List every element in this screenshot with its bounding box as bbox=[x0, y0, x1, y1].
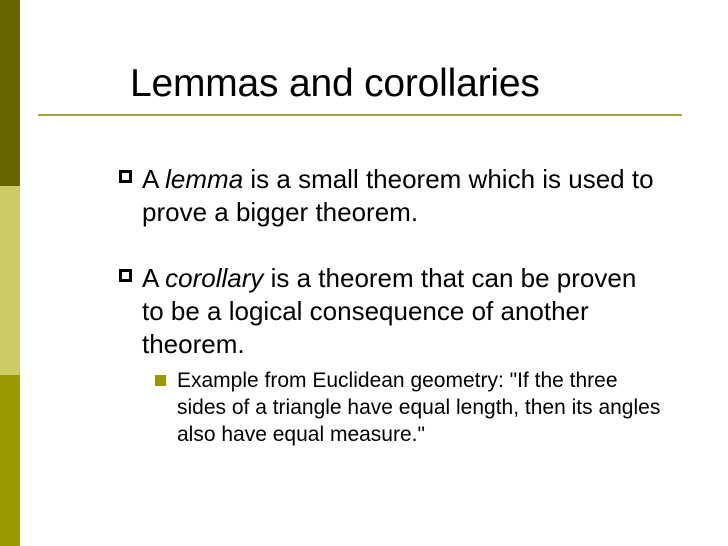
bullet-text: A corollary is a theorem that can be pro… bbox=[142, 263, 636, 359]
bullet-prefix: A bbox=[142, 263, 165, 293]
title-divider bbox=[38, 114, 682, 116]
sub-list: Example from Euclidean geometry: "If the… bbox=[118, 367, 663, 448]
bullet-prefix: A bbox=[142, 164, 165, 194]
hollow-square-bullet-icon bbox=[119, 170, 132, 183]
list-item: A corollary is a theorem that can be pro… bbox=[118, 262, 663, 361]
decorative-sidebar bbox=[0, 0, 20, 546]
slide-title: Lemmas and corollaries bbox=[130, 60, 690, 108]
bullet-emphasis: corollary bbox=[165, 263, 263, 293]
list-item: A lemma is a small theorem which is used… bbox=[118, 163, 663, 229]
bullet-spacer bbox=[118, 229, 663, 262]
dark-olive-band bbox=[0, 0, 20, 186]
slide: Lemmas and corollaries A lemma is a smal… bbox=[0, 0, 728, 546]
bullet-emphasis: lemma bbox=[165, 164, 243, 194]
filled-square-bullet-icon bbox=[155, 375, 166, 386]
sub-list-item: Example from Euclidean geometry: "If the… bbox=[153, 367, 663, 448]
sub-bullet-text: Example from Euclidean geometry: "If the… bbox=[177, 369, 660, 446]
body-content: A lemma is a small theorem which is used… bbox=[118, 163, 663, 448]
light-olive-band bbox=[0, 186, 20, 375]
hollow-square-bullet-icon bbox=[119, 269, 132, 282]
bullet-text: A lemma is a small theorem which is used… bbox=[142, 164, 654, 227]
bright-olive-band bbox=[0, 375, 20, 546]
